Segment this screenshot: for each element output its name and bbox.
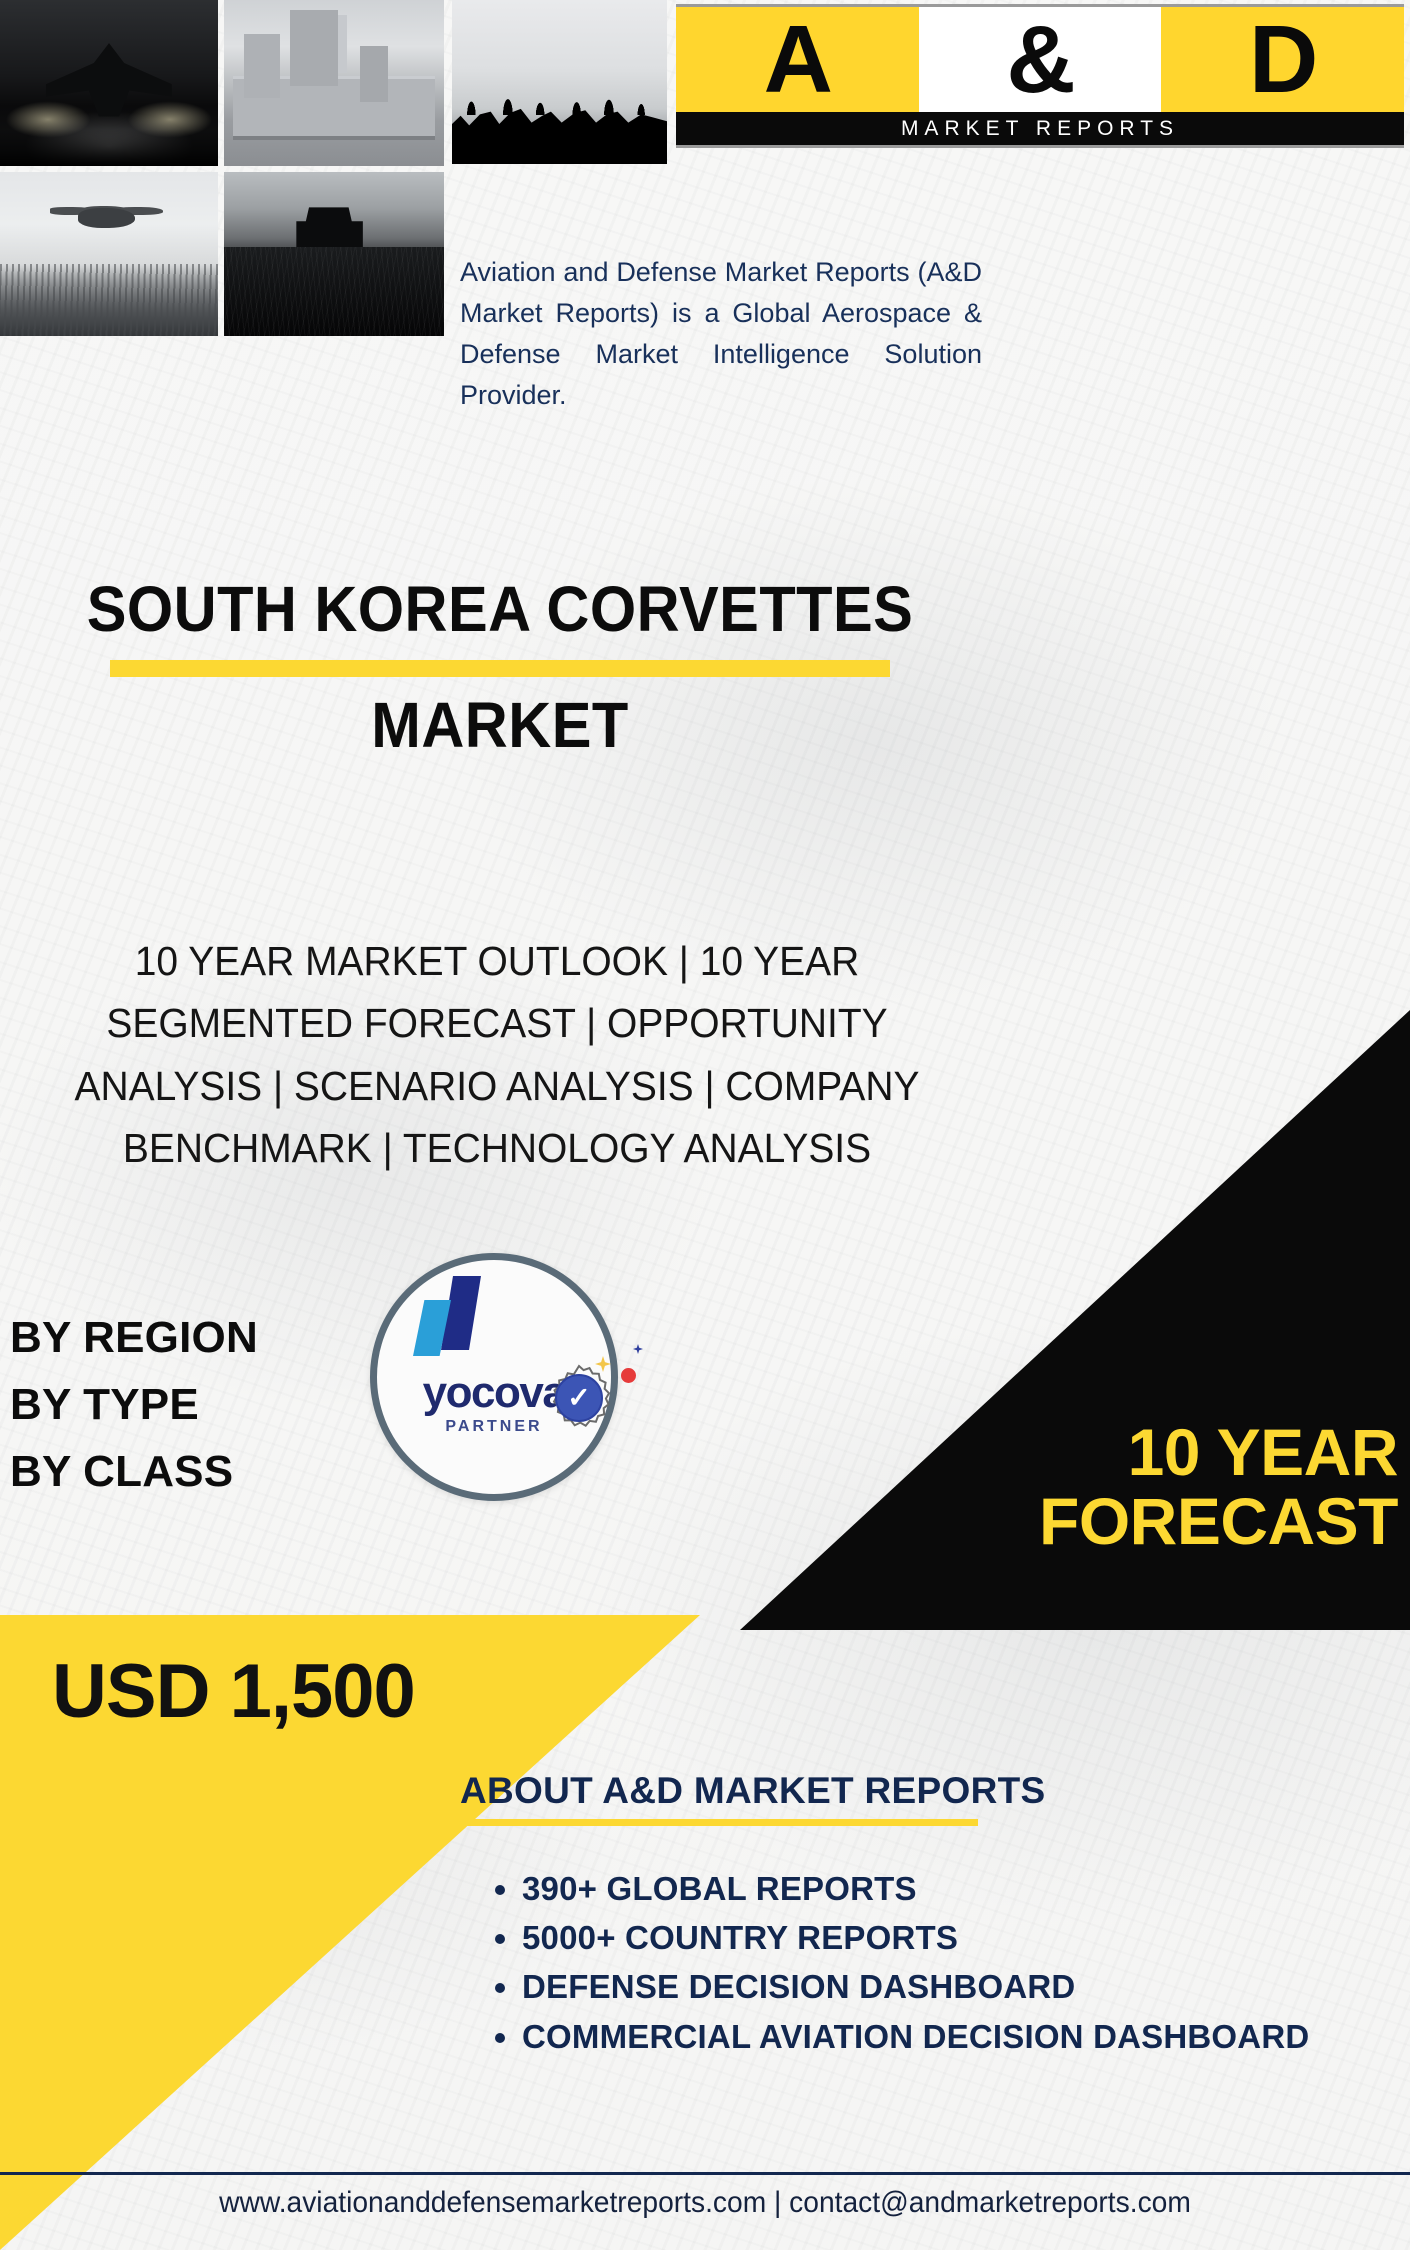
footer-contact: www.aviationanddefensemarketreports.com … [42, 2186, 1367, 2220]
price-label: USD 1,500 [52, 1648, 415, 1735]
footer-divider [0, 2172, 1410, 2175]
about-bullet-commercial-dashboard: COMMERCIAL AVIATION DECISION DASHBOARD [522, 2016, 1390, 2058]
yocova-mark-icon [407, 1276, 499, 1356]
about-bullet-list: 390+ GLOBAL REPORTS 5000+ COUNTRY REPORT… [522, 1868, 1390, 2058]
check-mark: ✓ [555, 1374, 603, 1422]
logo-letter-d: D [1161, 7, 1404, 112]
forecast-callout: 10 YEAR FORECAST [838, 1418, 1398, 1557]
about-section: ABOUT A&D MARKET REPORTS 390+ GLOBAL REP… [460, 1770, 1390, 2065]
segment-item-type: BY TYPE [10, 1372, 258, 1439]
segmentation-list: BY REGION BY TYPE BY CLASS [10, 1305, 258, 1506]
armored-vehicle-photo [224, 172, 444, 336]
about-bullet-global-reports: 390+ GLOBAL REPORTS [522, 1868, 1390, 1910]
dot-red-icon [621, 1368, 636, 1383]
logo-letter-ampersand: & [919, 7, 1162, 112]
aircraft-carrier-photo [224, 0, 444, 166]
segment-item-region: BY REGION [10, 1305, 258, 1372]
yocova-partner-seal: yocova PARTNER ✓ [370, 1253, 618, 1501]
title-line-1: SOUTH KOREA CORVETTES [35, 575, 965, 644]
about-underline-bar [466, 1819, 978, 1826]
logo-letter-a: A [676, 7, 919, 112]
segment-item-class: BY CLASS [10, 1439, 258, 1506]
forecast-line-1: 10 YEAR [838, 1418, 1398, 1487]
logo-letter-row: A & D [676, 4, 1404, 112]
company-intro-paragraph: Aviation and Defense Market Reports (A&D… [460, 252, 982, 416]
about-bullet-defense-dashboard: DEFENSE DECISION DASHBOARD [522, 1966, 1390, 2008]
about-heading: ABOUT A&D MARKET REPORTS [460, 1770, 1390, 1812]
report-scope-subtitle: 10 YEAR MARKET OUTLOOK | 10 YEAR SEGMENT… [46, 930, 949, 1179]
helicopter-photo [0, 172, 218, 336]
forecast-line-2: FORECAST [838, 1487, 1398, 1556]
about-bullet-country-reports: 5000+ COUNTRY REPORTS [522, 1917, 1390, 1959]
soldiers-silhouette-photo [452, 0, 667, 164]
ad-market-reports-logo: A & D MARKET REPORTS [676, 4, 1404, 150]
verified-check-icon: ✓ [545, 1364, 613, 1432]
fighter-jet-photo [0, 0, 218, 166]
logo-tagline: MARKET REPORTS [676, 112, 1404, 148]
title-line-2: MARKET [35, 691, 965, 760]
title-underline-bar [110, 660, 890, 677]
page-title: SOUTH KOREA CORVETTES MARKET [0, 575, 1000, 760]
